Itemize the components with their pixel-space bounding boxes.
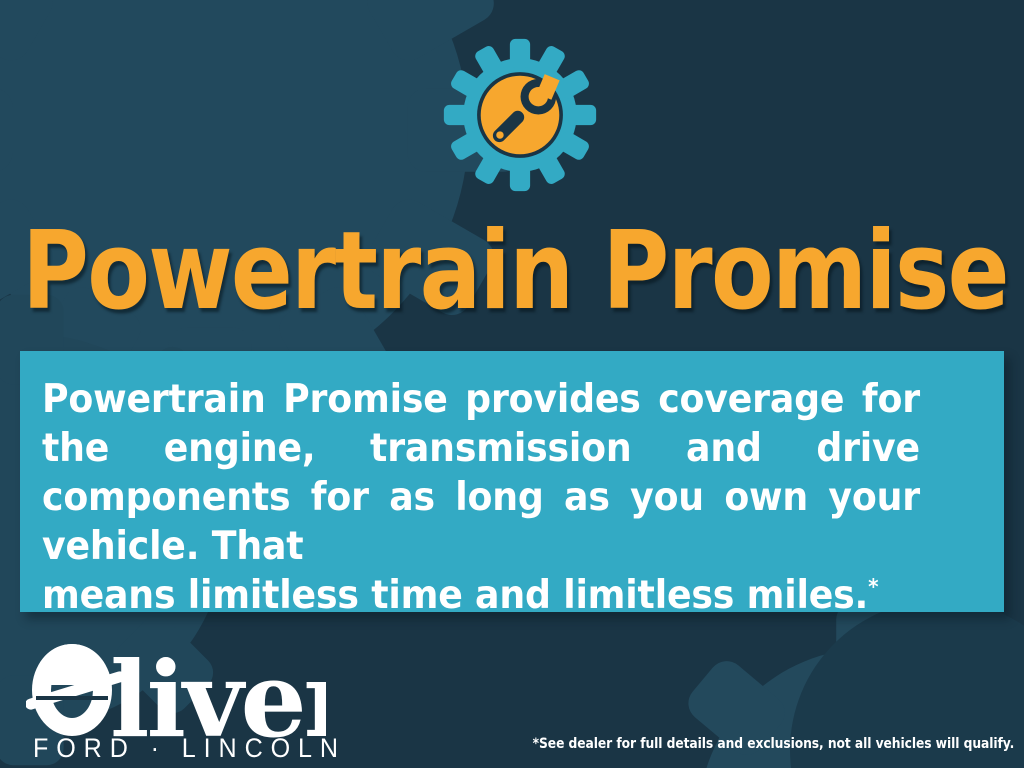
gear-wrench-icon bbox=[439, 30, 601, 200]
svg-text:liver: liver bbox=[110, 638, 326, 740]
body-copy: Powertrain Promise provides coverage for… bbox=[42, 375, 920, 620]
oliver-wordmark: liver bbox=[26, 636, 326, 740]
body-line-4: means limitless time and limitless miles… bbox=[42, 573, 868, 618]
oliver-ford-lincoln-logo: liver FORD · LINCOLN bbox=[26, 636, 326, 768]
body-panel: Powertrain Promise provides coverage for… bbox=[20, 351, 1004, 612]
powertrain-promise-poster: Powertrain Promise Powertrain Promise pr… bbox=[0, 0, 1024, 768]
disclaimer-footnote: *See dealer for full details and exclusi… bbox=[532, 735, 1014, 753]
body-line-4-wrap: means limitless time and limitless miles… bbox=[42, 571, 920, 620]
logo-subtitle: FORD · LINCOLN bbox=[33, 733, 346, 763]
asterisk-marker: * bbox=[868, 575, 878, 600]
page-title: Powertrain Promise bbox=[22, 218, 853, 330]
